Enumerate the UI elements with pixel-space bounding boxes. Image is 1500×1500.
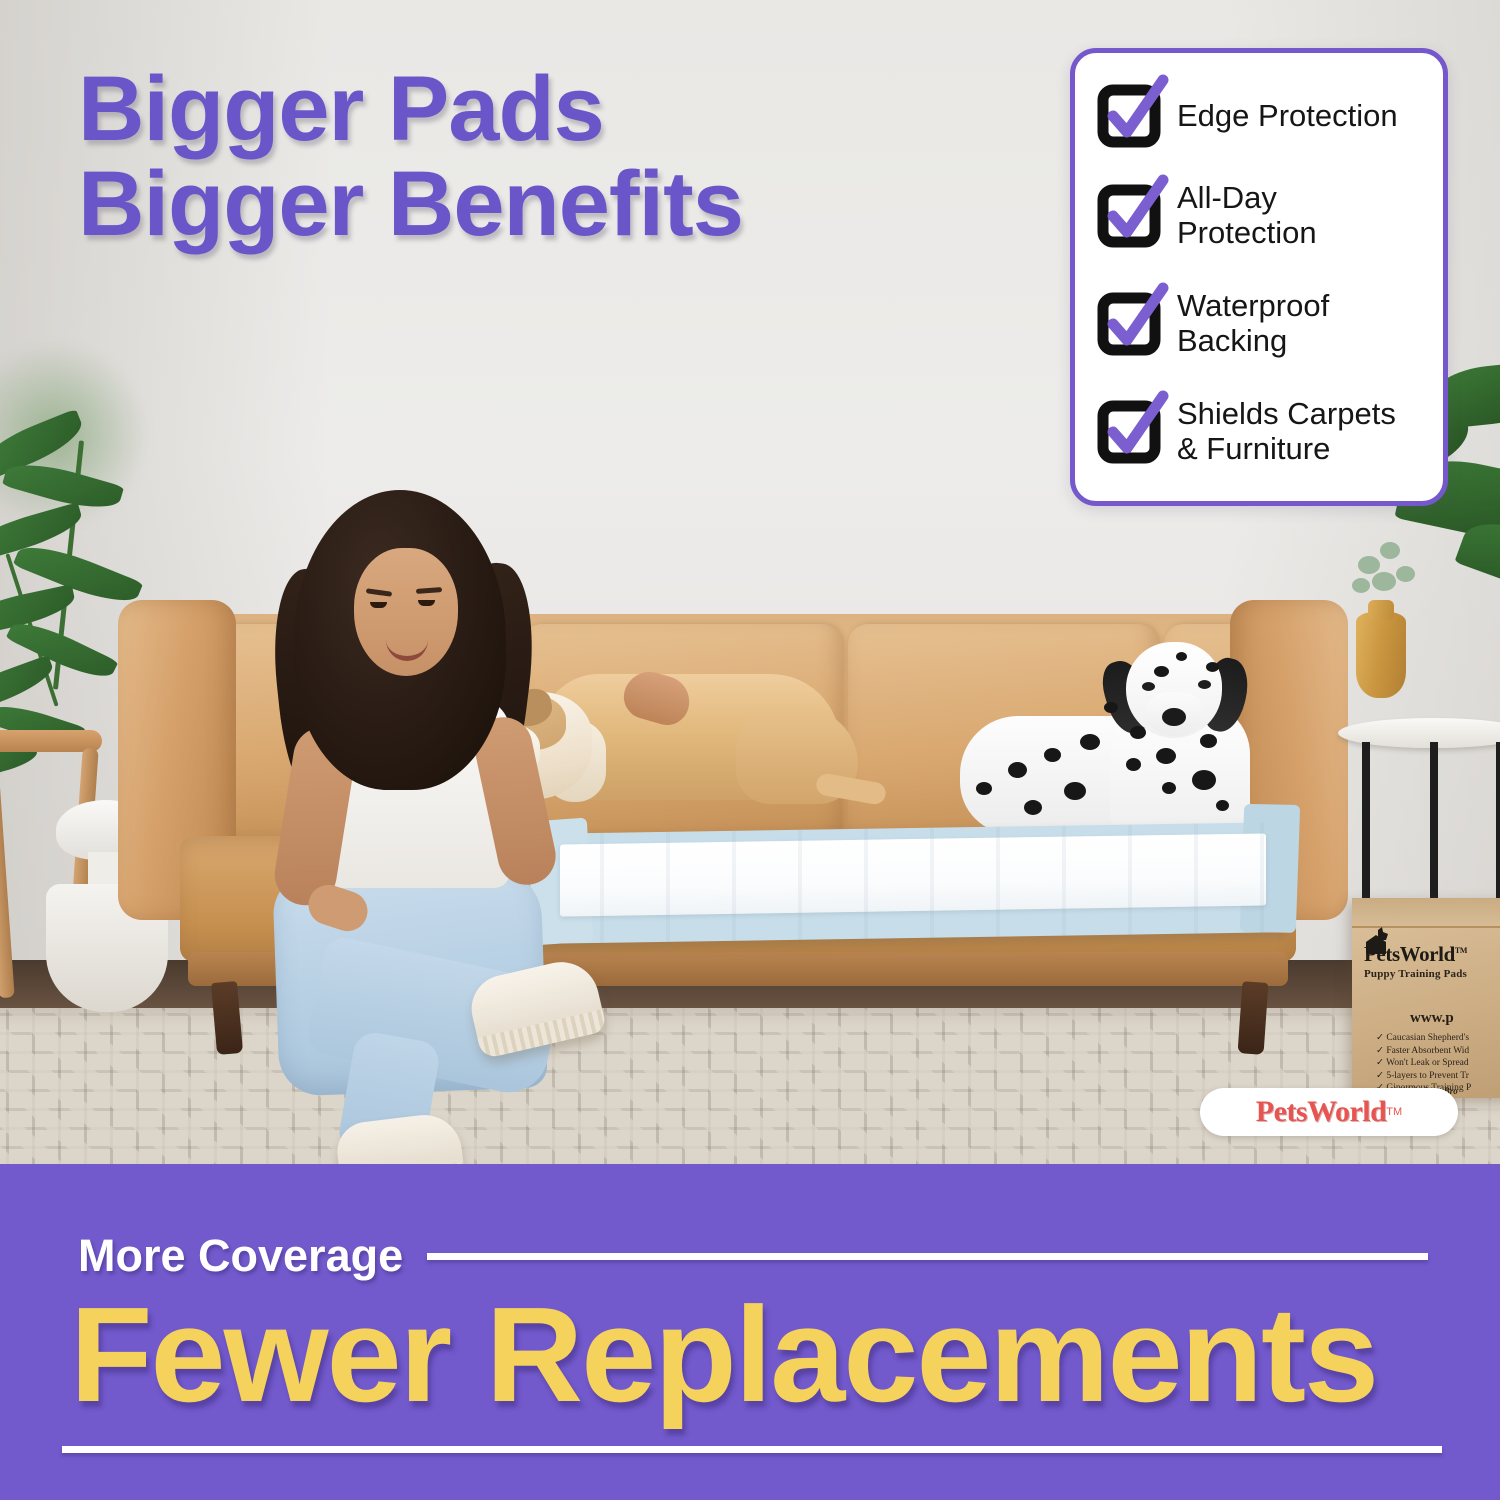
feature-label: Edge Protection <box>1177 98 1398 133</box>
checkbox-checked-icon <box>1101 296 1159 350</box>
box-trademark: TM <box>1455 946 1467 955</box>
sofa-leg <box>1238 981 1269 1055</box>
headline-line-1: Bigger Pads <box>78 62 743 157</box>
banner-rule-top <box>427 1253 1428 1260</box>
product-marketing-image: PetsWorldTM Puppy Training Pads www.p ✓ … <box>0 0 1500 1500</box>
dalmatian-eye <box>1198 680 1211 689</box>
dog-silhouette-icon <box>1364 926 1398 956</box>
brand-name: PetsWorld <box>1256 1095 1387 1129</box>
feature-row: Edge Protection <box>1093 88 1425 142</box>
box-logo: PetsWorldTM Puppy Training Pads <box>1364 942 1500 980</box>
box-bullet: ✓ Faster Absorbent Wid <box>1376 1045 1500 1058</box>
headline: Bigger Pads Bigger Benefits <box>78 62 743 252</box>
feature-row: All-Day Protection <box>1093 180 1425 250</box>
vase-neck <box>1368 600 1394 620</box>
brand-trademark: TM <box>1386 1106 1402 1118</box>
box-bullet: ✓ Won't Leak or Spread <box>1376 1057 1500 1070</box>
product-box: PetsWorldTM Puppy Training Pads www.p ✓ … <box>1352 898 1500 1098</box>
dalmatian-nose <box>1162 708 1186 726</box>
box-bullet: ✓ Caucasian Shepherd's <box>1376 1032 1500 1045</box>
banner-headline: Fewer Replacements <box>70 1286 1450 1424</box>
gold-vase <box>1356 612 1406 698</box>
banner-rule-bottom <box>62 1446 1442 1453</box>
checkbox-checked-icon <box>1101 88 1159 142</box>
checkbox-checked-icon <box>1101 404 1159 458</box>
box-website: www.p <box>1410 1010 1454 1027</box>
box-subtitle: Puppy Training Pads <box>1364 968 1500 980</box>
feature-row: Waterproof Backing <box>1093 288 1425 358</box>
checkbox-checked-icon <box>1101 188 1159 242</box>
feature-row: Shields Carpets & Furniture <box>1093 396 1425 466</box>
feature-label: Shields Carpets & Furniture <box>1177 396 1425 466</box>
pad-folds <box>538 822 1288 944</box>
brand-badge: PetsWorldTM <box>1200 1088 1458 1136</box>
sofa-leg <box>211 981 243 1055</box>
box-lid <box>1352 898 1500 928</box>
box-bullet: ✓ 5-layers to Prevent Tr <box>1376 1070 1500 1083</box>
bottom-banner: More Coverage Fewer Replacements <box>0 1164 1500 1500</box>
training-pad <box>538 822 1288 944</box>
banner-top-row: More Coverage <box>78 1230 1428 1282</box>
feature-checklist-card: Edge Protection All-Day Protection Water… <box>1070 48 1448 506</box>
dalmatian-eye <box>1142 682 1155 691</box>
banner-subtitle: More Coverage <box>78 1230 403 1282</box>
feature-label: All-Day Protection <box>1177 180 1425 250</box>
feature-label: Waterproof Backing <box>1177 288 1425 358</box>
woman-sitting <box>250 490 590 1080</box>
headline-line-2: Bigger Benefits <box>78 157 743 252</box>
